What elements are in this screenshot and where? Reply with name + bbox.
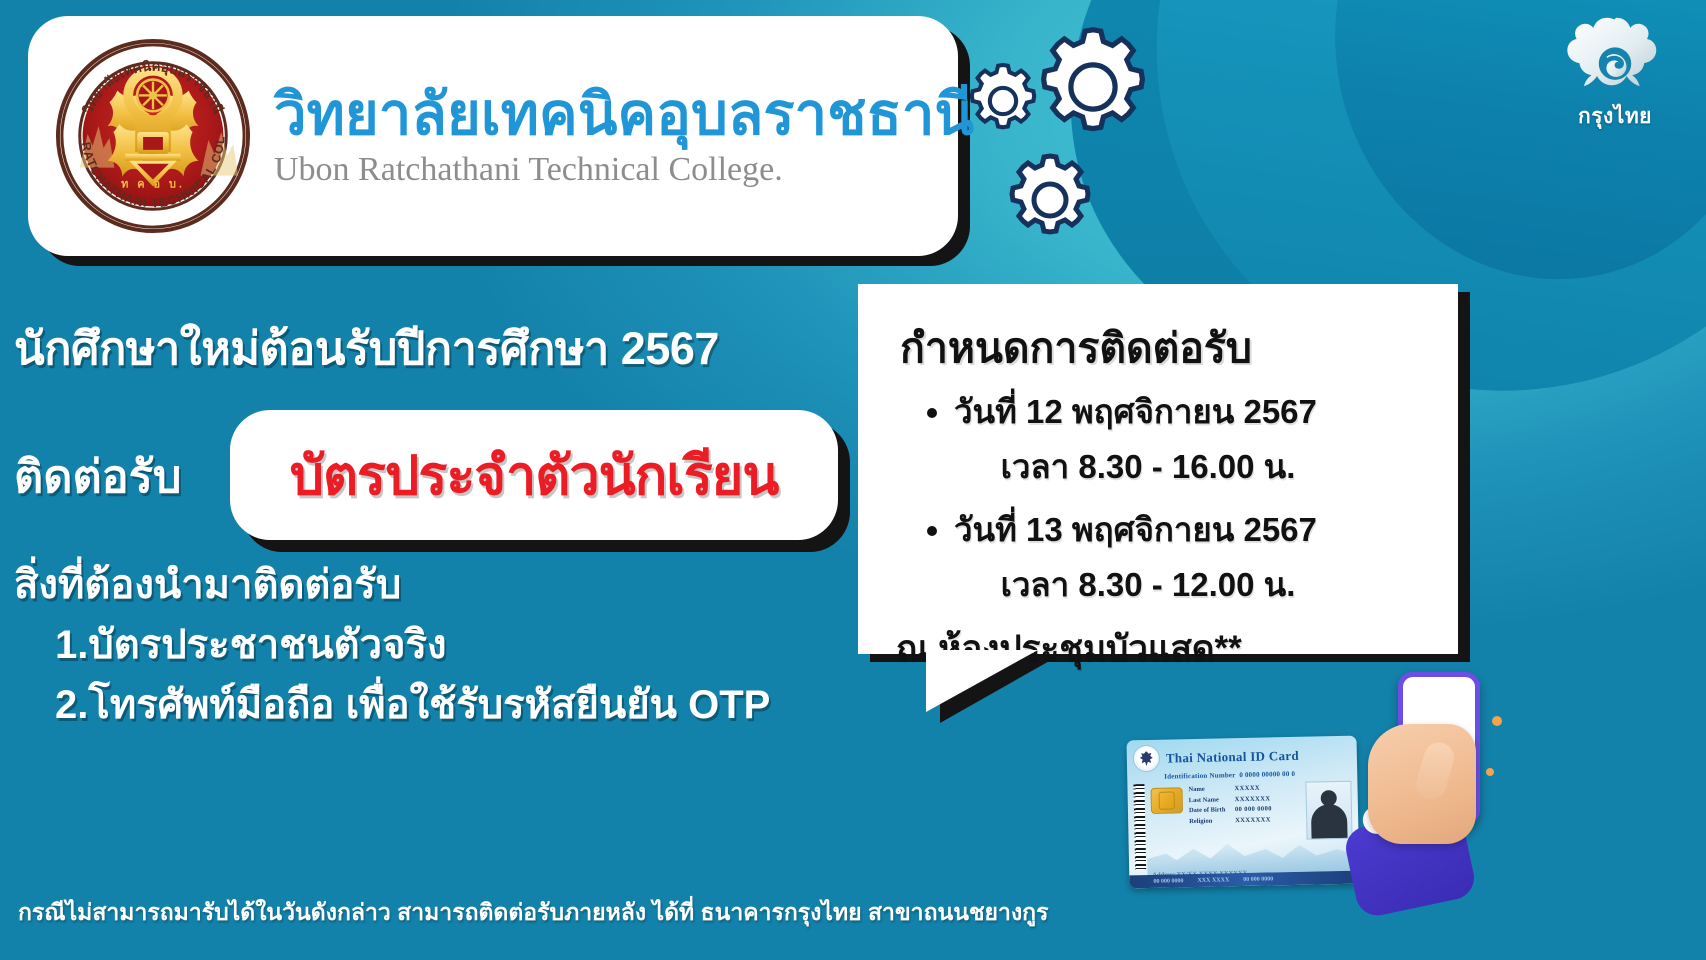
requirements-title: สิ่งที่ต้องนำมาติดต่อรับ (14, 552, 401, 616)
contact-row: ติดต่อรับ บัตรประจำตัวนักเรียน (14, 412, 844, 534)
table-row: Religion XXXXXXX (1189, 814, 1303, 827)
decorative-dot-2 (1486, 768, 1494, 776)
field-value: XXXXXXX (1235, 794, 1271, 805)
schedule-time-2: เวลา 8.30 - 12.00 น. (892, 558, 1432, 611)
field-value: 00 000 0000 (1235, 804, 1272, 815)
list-item: วันที่ 12 พฤศจิกายน 2567 (954, 385, 1432, 438)
strip-value-2: XXX XXXX (1197, 877, 1229, 884)
hand-illustration (1368, 724, 1476, 844)
svg-text:ท ค อ บ.: ท ค อ บ. (121, 178, 185, 190)
schedule-bubble: กำหนดการติดต่อรับ วันที่ 12 พฤศจิกายน 25… (858, 284, 1458, 654)
field-value: XXXXXXX (1235, 815, 1271, 826)
id-card-number-value: 0 0000 00000 00 0 (1239, 770, 1295, 779)
poster-canvas: กรุงไทย (0, 0, 1706, 960)
footer-note: กรณีไม่สามารถมารับได้ในวันดังกล่าว สามาร… (18, 895, 1048, 931)
schedule-bubble-tail (926, 650, 1038, 712)
thai-national-id-card: Thai National ID Card Identification Num… (1126, 736, 1359, 889)
schedule-time-1: เวลา 8.30 - 16.00 น. (892, 440, 1432, 493)
header-card: วิทยาลัยเทคนิคอุบลราชธานี UBON RATCHATHA… (28, 16, 958, 256)
decorative-dot-1 (1492, 716, 1502, 726)
student-card-pill: บัตรประจำตัวนักเรียน (230, 410, 838, 540)
barcode (1133, 784, 1146, 870)
strip-value-1: 00 000 0000 (1153, 878, 1183, 885)
requirement-item-2: 2.โทรศัพท์มือถือ เพื่อใช้รับรหัสยืนยัน O… (55, 672, 770, 736)
vayupak-bird-icon (1567, 14, 1663, 98)
garuda-emblem-icon (1133, 745, 1161, 773)
id-card-header: Thai National ID Card (1126, 736, 1357, 773)
contact-label: ติดต่อรับ (14, 440, 181, 512)
schedule-date-list-2: วันที่ 13 พฤศจิกายน 2567 (892, 503, 1432, 556)
college-name-english: Ubon Ratchathani Technical College. (274, 151, 974, 188)
student-card-pill-text: บัตรประจำตัวนักเรียน (290, 432, 779, 518)
field-label: Religion (1189, 816, 1235, 827)
headline-text: นักศึกษาใหม่ต้อนรับปีการศึกษา 2567 (14, 312, 834, 384)
strip-value-3: 00 000 0000 (1243, 876, 1273, 883)
college-crest-icon: วิทยาลัยเทคนิคอุบลราชธานี UBON RATCHATHA… (54, 37, 252, 235)
header-titles: วิทยาลัยเทคนิคอุบลราชธานี Ubon Ratchatha… (274, 84, 974, 188)
requirement-item-1: 1.บัตรประชาชนตัวจริง (55, 612, 447, 676)
schedule-date-list: วันที่ 12 พฤศจิกายน 2567 (892, 385, 1432, 438)
krungthai-bank-name: กรุงไทย (1550, 100, 1680, 133)
krungthai-bank-logo: กรุงไทย (1550, 14, 1680, 133)
id-card-title: Thai National ID Card (1166, 747, 1299, 766)
thumb (1413, 739, 1458, 803)
id-card-number-label: Identification Number (1164, 771, 1235, 780)
smart-chip-icon (1150, 787, 1183, 814)
schedule-title: กำหนดการติดต่อรับ (900, 316, 1432, 381)
field-value: XXXXX (1234, 784, 1260, 795)
gear-icon-small (962, 60, 1044, 142)
gear-icon-large (1028, 22, 1158, 152)
college-name-thai: วิทยาลัยเทคนิคอุบลราชธานี (274, 84, 974, 147)
list-item: วันที่ 13 พฤศจิกายน 2567 (954, 503, 1432, 556)
gear-icon-medium (1000, 150, 1100, 250)
sms-otp-illustration: SMS OTP (1368, 672, 1518, 912)
id-photo-placeholder (1305, 781, 1352, 840)
